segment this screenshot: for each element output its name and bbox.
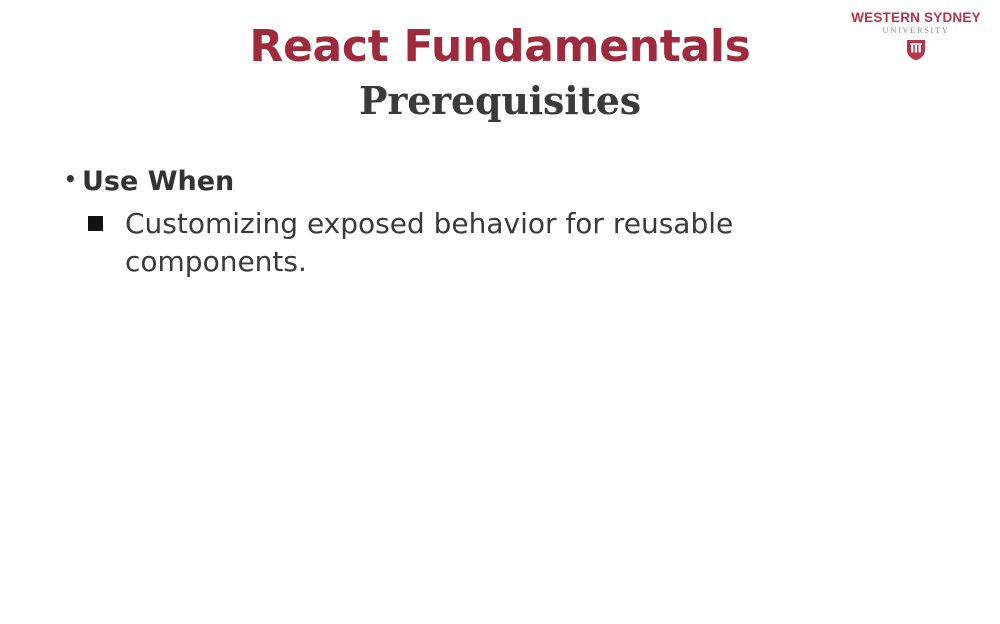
- slide-subtitle: Prerequisites: [0, 79, 1000, 123]
- slide-body: • Use When Customizing exposed behavior …: [64, 166, 924, 282]
- square-bullet-icon: [88, 205, 125, 231]
- slide-canvas: WESTERN SYDNEY UNIVERSITY React Fundamen…: [0, 0, 1000, 624]
- bullet-level2: Customizing exposed behavior for reusabl…: [88, 205, 924, 281]
- bullet-level1: • Use When: [64, 166, 924, 198]
- title-block: React Fundamentals Prerequisites: [0, 22, 1000, 123]
- bullet-level2-label: Customizing exposed behavior for reusabl…: [125, 205, 805, 281]
- slide-title: React Fundamentals: [0, 22, 1000, 71]
- round-dot-bullet-icon: •: [64, 166, 82, 193]
- bullet-level1-label: Use When: [82, 166, 924, 198]
